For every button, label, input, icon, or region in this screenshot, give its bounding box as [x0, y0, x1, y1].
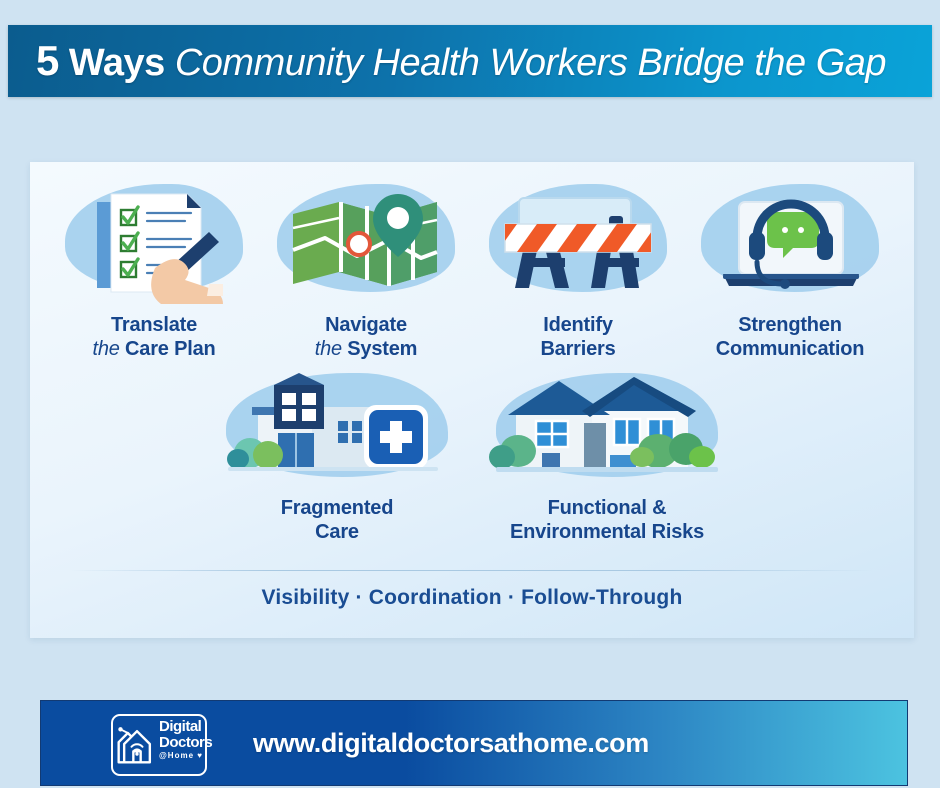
label-line-2-bold: Communication [716, 338, 865, 360]
infographic-card: Translate the Care Plan [30, 162, 914, 638]
label-line-1: Functional & [510, 497, 704, 521]
item-label: Identify Barriers [540, 314, 615, 361]
item-label: Fragmented Care [281, 497, 393, 544]
item-translate-care-plan: Translate the Care Plan [48, 176, 260, 361]
label-line-1: Identify [540, 314, 615, 338]
item-label: Strengthen Communication [716, 314, 865, 361]
house-medical-cross-icon [212, 367, 462, 487]
title-count: 5 [36, 37, 59, 84]
label-line-1: Fragmented [281, 497, 393, 521]
logo-line-3: @Home ♥ [159, 752, 212, 760]
icon-row-1: Translate the Care Plan [30, 162, 914, 361]
label-line-2-italic: the [315, 338, 348, 360]
label-line-2-bold: System [347, 338, 417, 360]
map-pin-icon [271, 176, 461, 304]
item-label: Navigate the System [315, 314, 418, 361]
logo-line-2: Doctors [159, 735, 212, 750]
label-line-1: Translate [92, 314, 215, 338]
item-identify-barriers: Identify Barriers [472, 176, 684, 361]
page-title: 5 Ways Community Health Workers Bridge t… [8, 37, 886, 85]
suburban-house-icon [482, 367, 732, 487]
header-bar: 5 Ways Community Health Workers Bridge t… [8, 25, 932, 97]
logo-line-1: Digital [159, 719, 212, 734]
footer-bar: Digital Doctors @Home ♥ www.digitaldocto… [40, 700, 908, 786]
website-url[interactable]: www.digitaldoctorsathome.com [253, 728, 649, 759]
brand-logo[interactable]: Digital Doctors @Home ♥ [101, 712, 209, 774]
label-line-1: Strengthen [716, 314, 865, 338]
label-line-1: Navigate [315, 314, 418, 338]
label-line-2-bold: Care Plan [125, 338, 215, 360]
item-label: Functional & Environmental Risks [510, 497, 704, 544]
icon-row-2: Fragmented Care [30, 361, 914, 544]
label-line-2-bold: Environmental Risks [510, 521, 704, 543]
item-fragmented-care: Fragmented Care [202, 367, 472, 544]
road-barrier-icon [483, 176, 673, 304]
label-line-2-bold: Barriers [540, 338, 615, 360]
tagline: Visibility · Coordination · Follow-Throu… [30, 586, 914, 610]
title-bold-part: Ways [69, 42, 165, 84]
house-wifi-icon [115, 722, 159, 766]
item-navigate-system: Navigate the System [260, 176, 472, 361]
item-strengthen-communication: Strengthen Communication [684, 176, 896, 361]
checklist-pen-icon [59, 176, 249, 304]
label-line-2-italic: the [92, 338, 125, 360]
title-italic-part: Community Health Workers Bridge the Gap [175, 42, 886, 84]
laptop-headset-chat-icon [695, 176, 885, 304]
label-line-2-bold: Care [315, 521, 359, 543]
item-functional-environmental-risks: Functional & Environmental Risks [472, 367, 742, 544]
logo-wordmark: Digital Doctors @Home ♥ [159, 719, 212, 760]
tagline-divider [70, 570, 874, 571]
item-label: Translate the Care Plan [92, 314, 215, 361]
